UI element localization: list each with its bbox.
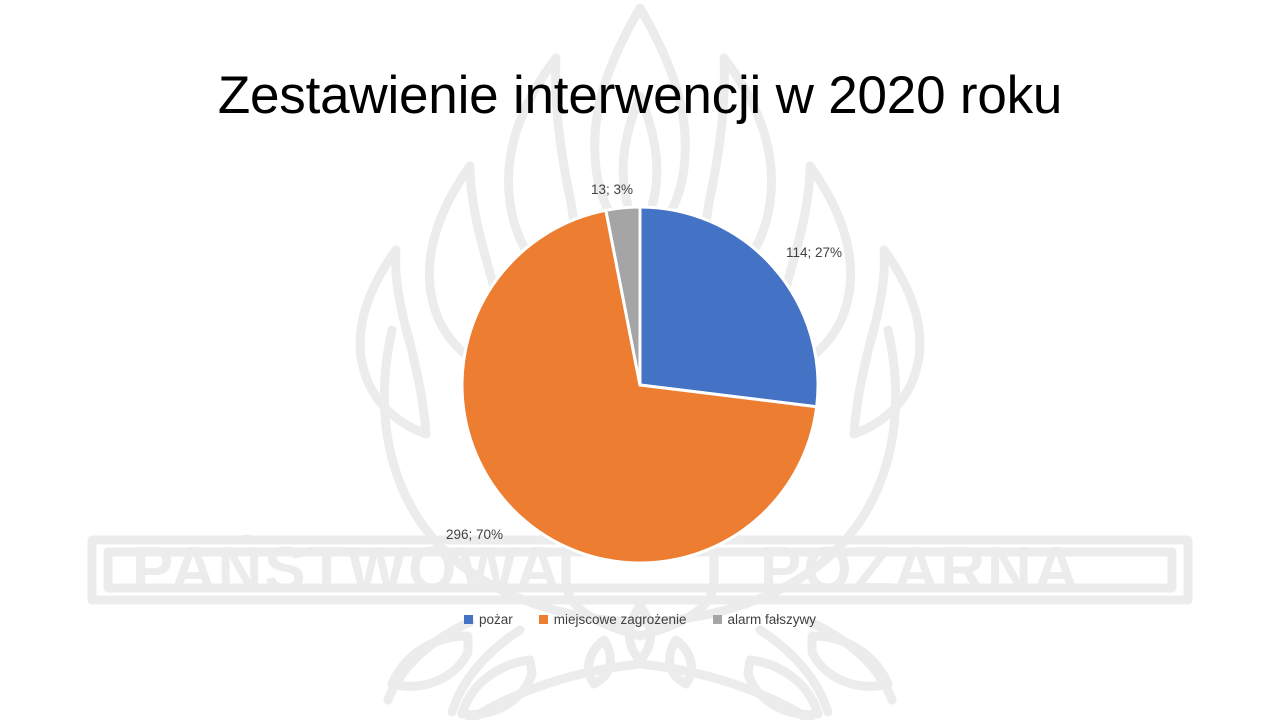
legend-label-pozar: pożar [479,612,513,627]
legend-item-pozar[interactable]: pożar [464,612,513,627]
legend-swatch-icon-miejscowe-zagrozenie [539,615,548,624]
legend-item-miejscowe-zagrozenie[interactable]: miejscowe zagrożenie [539,612,687,627]
pie-slice-pozar[interactable] [640,207,818,407]
chart-legend: pożar miejscowe zagrożenie alarm fałszyw… [0,612,1280,627]
legend-label-miejscowe-zagrozenie: miejscowe zagrożenie [554,612,687,627]
slide-canvas: PAŃSTWOWA POŻARNA Zestawienie interwencj… [0,0,1280,720]
legend-swatch-icon-alarm-falszywy [713,615,722,624]
data-label-pozar: 114; 27% [786,245,842,260]
data-label-alarm-falszywy: 13; 3% [591,182,633,197]
data-label-miejscowe-zagrozenie: 296; 70% [446,527,503,542]
legend-swatch-icon-pozar [464,615,473,624]
legend-label-alarm-falszywy: alarm fałszywy [728,612,817,627]
page-title: Zestawienie interwencji w 2020 roku [0,66,1280,127]
legend-item-alarm-falszywy[interactable]: alarm fałszywy [713,612,817,627]
